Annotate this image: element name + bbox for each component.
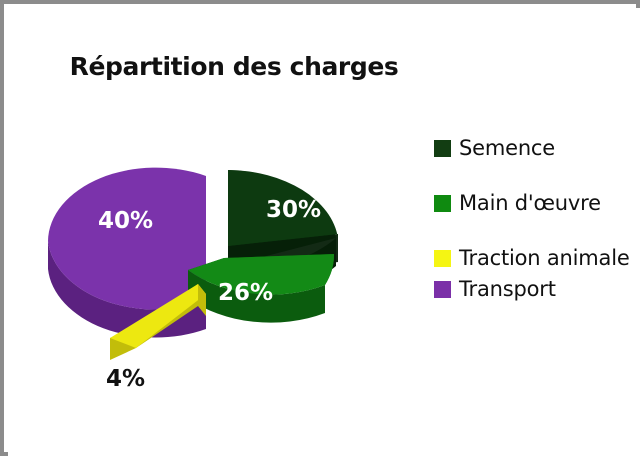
legend-swatch-main-doeuvre [434,195,451,212]
legend-swatch-traction-animale [434,250,451,267]
legend-item-semence[interactable]: Semence [434,136,640,161]
legend-swatch-semence [434,140,451,157]
legend-swatch-transport [434,281,451,298]
legend-item-traction-animale[interactable]: Traction animale [434,246,640,271]
legend-label-main-doeuvre: Main d'œuvre [459,191,601,216]
pie-chart: 40% 30% 26% 4% [38,158,438,428]
page-title: Répartition des charges [8,52,460,81]
legend-label-semence: Semence [459,136,555,161]
chart-frame: Répartition des charges [0,0,640,456]
chart-canvas: Répartition des charges [8,8,640,456]
chart-legend: Semence Main d'œuvre Traction animale Tr… [434,136,640,332]
pie-chart-graphic [38,158,438,428]
legend-label-traction-animale: Traction animale [459,246,630,271]
pie-slice-semence-top-2 [228,170,338,246]
legend-item-main-doeuvre[interactable]: Main d'œuvre [434,191,640,216]
legend-item-transport[interactable]: Transport [434,277,640,302]
legend-label-transport: Transport [459,277,556,302]
